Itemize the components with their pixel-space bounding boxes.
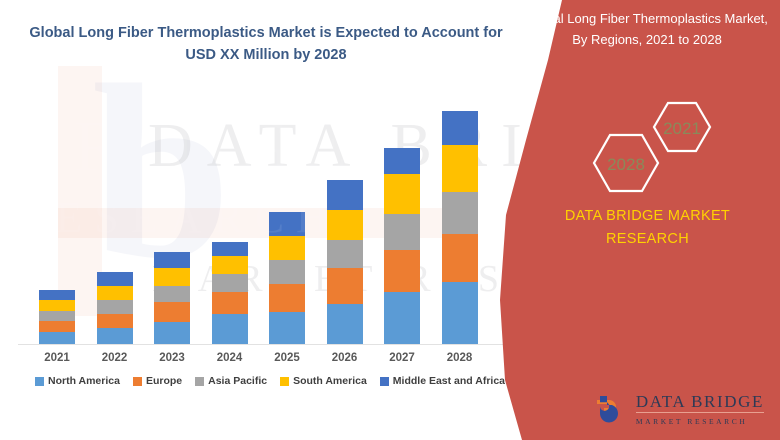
bar-segment-2023-middle-east-and-africa[interactable] xyxy=(154,252,190,268)
bar-2023[interactable] xyxy=(154,252,190,344)
legend-label: South America xyxy=(293,375,367,387)
bar-segment-2024-south-america[interactable] xyxy=(212,256,248,274)
legend-swatch-icon xyxy=(35,377,44,386)
infographic-root: b DATA BRIDGE MARKET RESEARCH Global Lon… xyxy=(0,0,780,440)
bar-segment-2026-south-america[interactable] xyxy=(327,210,363,240)
bar-segment-2027-middle-east-and-africa[interactable] xyxy=(384,148,420,174)
bar-segment-2025-north-america[interactable] xyxy=(269,312,305,344)
bar-segment-2026-europe[interactable] xyxy=(327,268,363,304)
bar-segment-2027-europe[interactable] xyxy=(384,250,420,292)
legend-label: Middle East and Africa xyxy=(393,375,505,387)
logo-divider xyxy=(636,412,764,413)
bar-segment-2024-middle-east-and-africa[interactable] xyxy=(212,242,248,256)
logo-title: DATA BRIDGE xyxy=(636,393,764,410)
legend-label: Europe xyxy=(146,375,182,387)
bar-segment-2021-south-america[interactable] xyxy=(39,300,75,311)
bar-segment-2027-south-america[interactable] xyxy=(384,174,420,214)
bar-segment-2022-north-america[interactable] xyxy=(97,328,133,344)
x-axis-label-2026: 2026 xyxy=(315,352,375,364)
bar-2028[interactable] xyxy=(442,111,478,344)
panel-brand-line1: DATA BRIDGE MARKET xyxy=(565,208,730,224)
legend-label: Asia Pacific xyxy=(208,375,267,387)
legend-swatch-icon xyxy=(380,377,389,386)
hexagon-group: 2021 2028 xyxy=(500,95,780,200)
legend-swatch-icon xyxy=(280,377,289,386)
bar-2021[interactable] xyxy=(39,290,75,344)
bar-segment-2022-asia-pacific[interactable] xyxy=(97,300,133,314)
logo: DATA BRIDGE MARKET RESEARCH xyxy=(594,392,764,426)
bar-segment-2028-asia-pacific[interactable] xyxy=(442,192,478,234)
stacked-bar-chart: 20212022202320242025202620272028 xyxy=(0,0,540,440)
bar-segment-2028-north-america[interactable] xyxy=(442,282,478,344)
bar-segment-2021-europe[interactable] xyxy=(39,321,75,332)
bar-segment-2028-middle-east-and-africa[interactable] xyxy=(442,111,478,145)
bar-segment-2028-south-america[interactable] xyxy=(442,145,478,192)
bar-2022[interactable] xyxy=(97,272,133,344)
hexagon-2021-label: 2021 xyxy=(663,119,701,138)
legend-item-north-america[interactable]: North America xyxy=(35,375,120,387)
legend-swatch-icon xyxy=(195,377,204,386)
logo-subtitle: MARKET RESEARCH xyxy=(636,418,764,426)
panel-title: Global Long Fiber Thermoplastics Market,… xyxy=(522,8,780,50)
bar-2024[interactable] xyxy=(212,242,248,344)
x-axis-label-2027: 2027 xyxy=(372,352,432,364)
bar-segment-2023-europe[interactable] xyxy=(154,302,190,322)
x-axis-line xyxy=(18,344,520,345)
bar-segment-2024-asia-pacific[interactable] xyxy=(212,274,248,292)
legend-item-asia-pacific[interactable]: Asia Pacific xyxy=(195,375,267,387)
bar-segment-2024-europe[interactable] xyxy=(212,292,248,314)
logo-mark-icon xyxy=(594,392,628,426)
chart-legend: North AmericaEuropeAsia PacificSouth Ame… xyxy=(0,375,540,387)
logo-text: DATA BRIDGE MARKET RESEARCH xyxy=(636,393,764,426)
bar-segment-2023-north-america[interactable] xyxy=(154,322,190,344)
hexagons-svg: 2021 2028 xyxy=(500,95,780,200)
bar-segment-2026-middle-east-and-africa[interactable] xyxy=(327,180,363,210)
legend-label: North America xyxy=(48,375,120,387)
panel-brand-line2: RESEARCH xyxy=(606,231,689,247)
bar-segment-2022-south-america[interactable] xyxy=(97,286,133,300)
bar-segment-2028-europe[interactable] xyxy=(442,234,478,282)
x-axis-label-2023: 2023 xyxy=(142,352,202,364)
bar-segment-2021-north-america[interactable] xyxy=(39,332,75,344)
bar-segment-2027-north-america[interactable] xyxy=(384,292,420,344)
legend-item-south-america[interactable]: South America xyxy=(280,375,367,387)
bar-segment-2027-asia-pacific[interactable] xyxy=(384,214,420,250)
hexagon-2028-label: 2028 xyxy=(607,155,645,174)
bar-segment-2026-north-america[interactable] xyxy=(327,304,363,344)
bar-segment-2021-middle-east-and-africa[interactable] xyxy=(39,290,75,300)
x-axis-label-2025: 2025 xyxy=(257,352,317,364)
bar-segment-2025-asia-pacific[interactable] xyxy=(269,260,305,284)
x-axis-label-2022: 2022 xyxy=(85,352,145,364)
bar-2025[interactable] xyxy=(269,212,305,344)
x-axis-label-2021: 2021 xyxy=(27,352,87,364)
bar-segment-2026-asia-pacific[interactable] xyxy=(327,240,363,268)
bar-segment-2022-middle-east-and-africa[interactable] xyxy=(97,272,133,286)
bar-2027[interactable] xyxy=(384,148,420,344)
x-axis-label-2028: 2028 xyxy=(430,352,490,364)
bar-segment-2023-south-america[interactable] xyxy=(154,268,190,286)
legend-swatch-icon xyxy=(133,377,142,386)
bar-2026[interactable] xyxy=(327,180,363,344)
bar-segment-2021-asia-pacific[interactable] xyxy=(39,311,75,321)
bar-segment-2025-middle-east-and-africa[interactable] xyxy=(269,212,305,236)
legend-item-middle-east-and-africa[interactable]: Middle East and Africa xyxy=(380,375,505,387)
bar-segment-2025-south-america[interactable] xyxy=(269,236,305,260)
bar-segment-2024-north-america[interactable] xyxy=(212,314,248,344)
bar-segment-2023-asia-pacific[interactable] xyxy=(154,286,190,302)
x-axis-label-2024: 2024 xyxy=(200,352,260,364)
bar-segment-2022-europe[interactable] xyxy=(97,314,133,328)
bar-segment-2025-europe[interactable] xyxy=(269,284,305,312)
panel-brand-text: DATA BRIDGE MARKET RESEARCH xyxy=(515,205,780,251)
legend-item-europe[interactable]: Europe xyxy=(133,375,182,387)
